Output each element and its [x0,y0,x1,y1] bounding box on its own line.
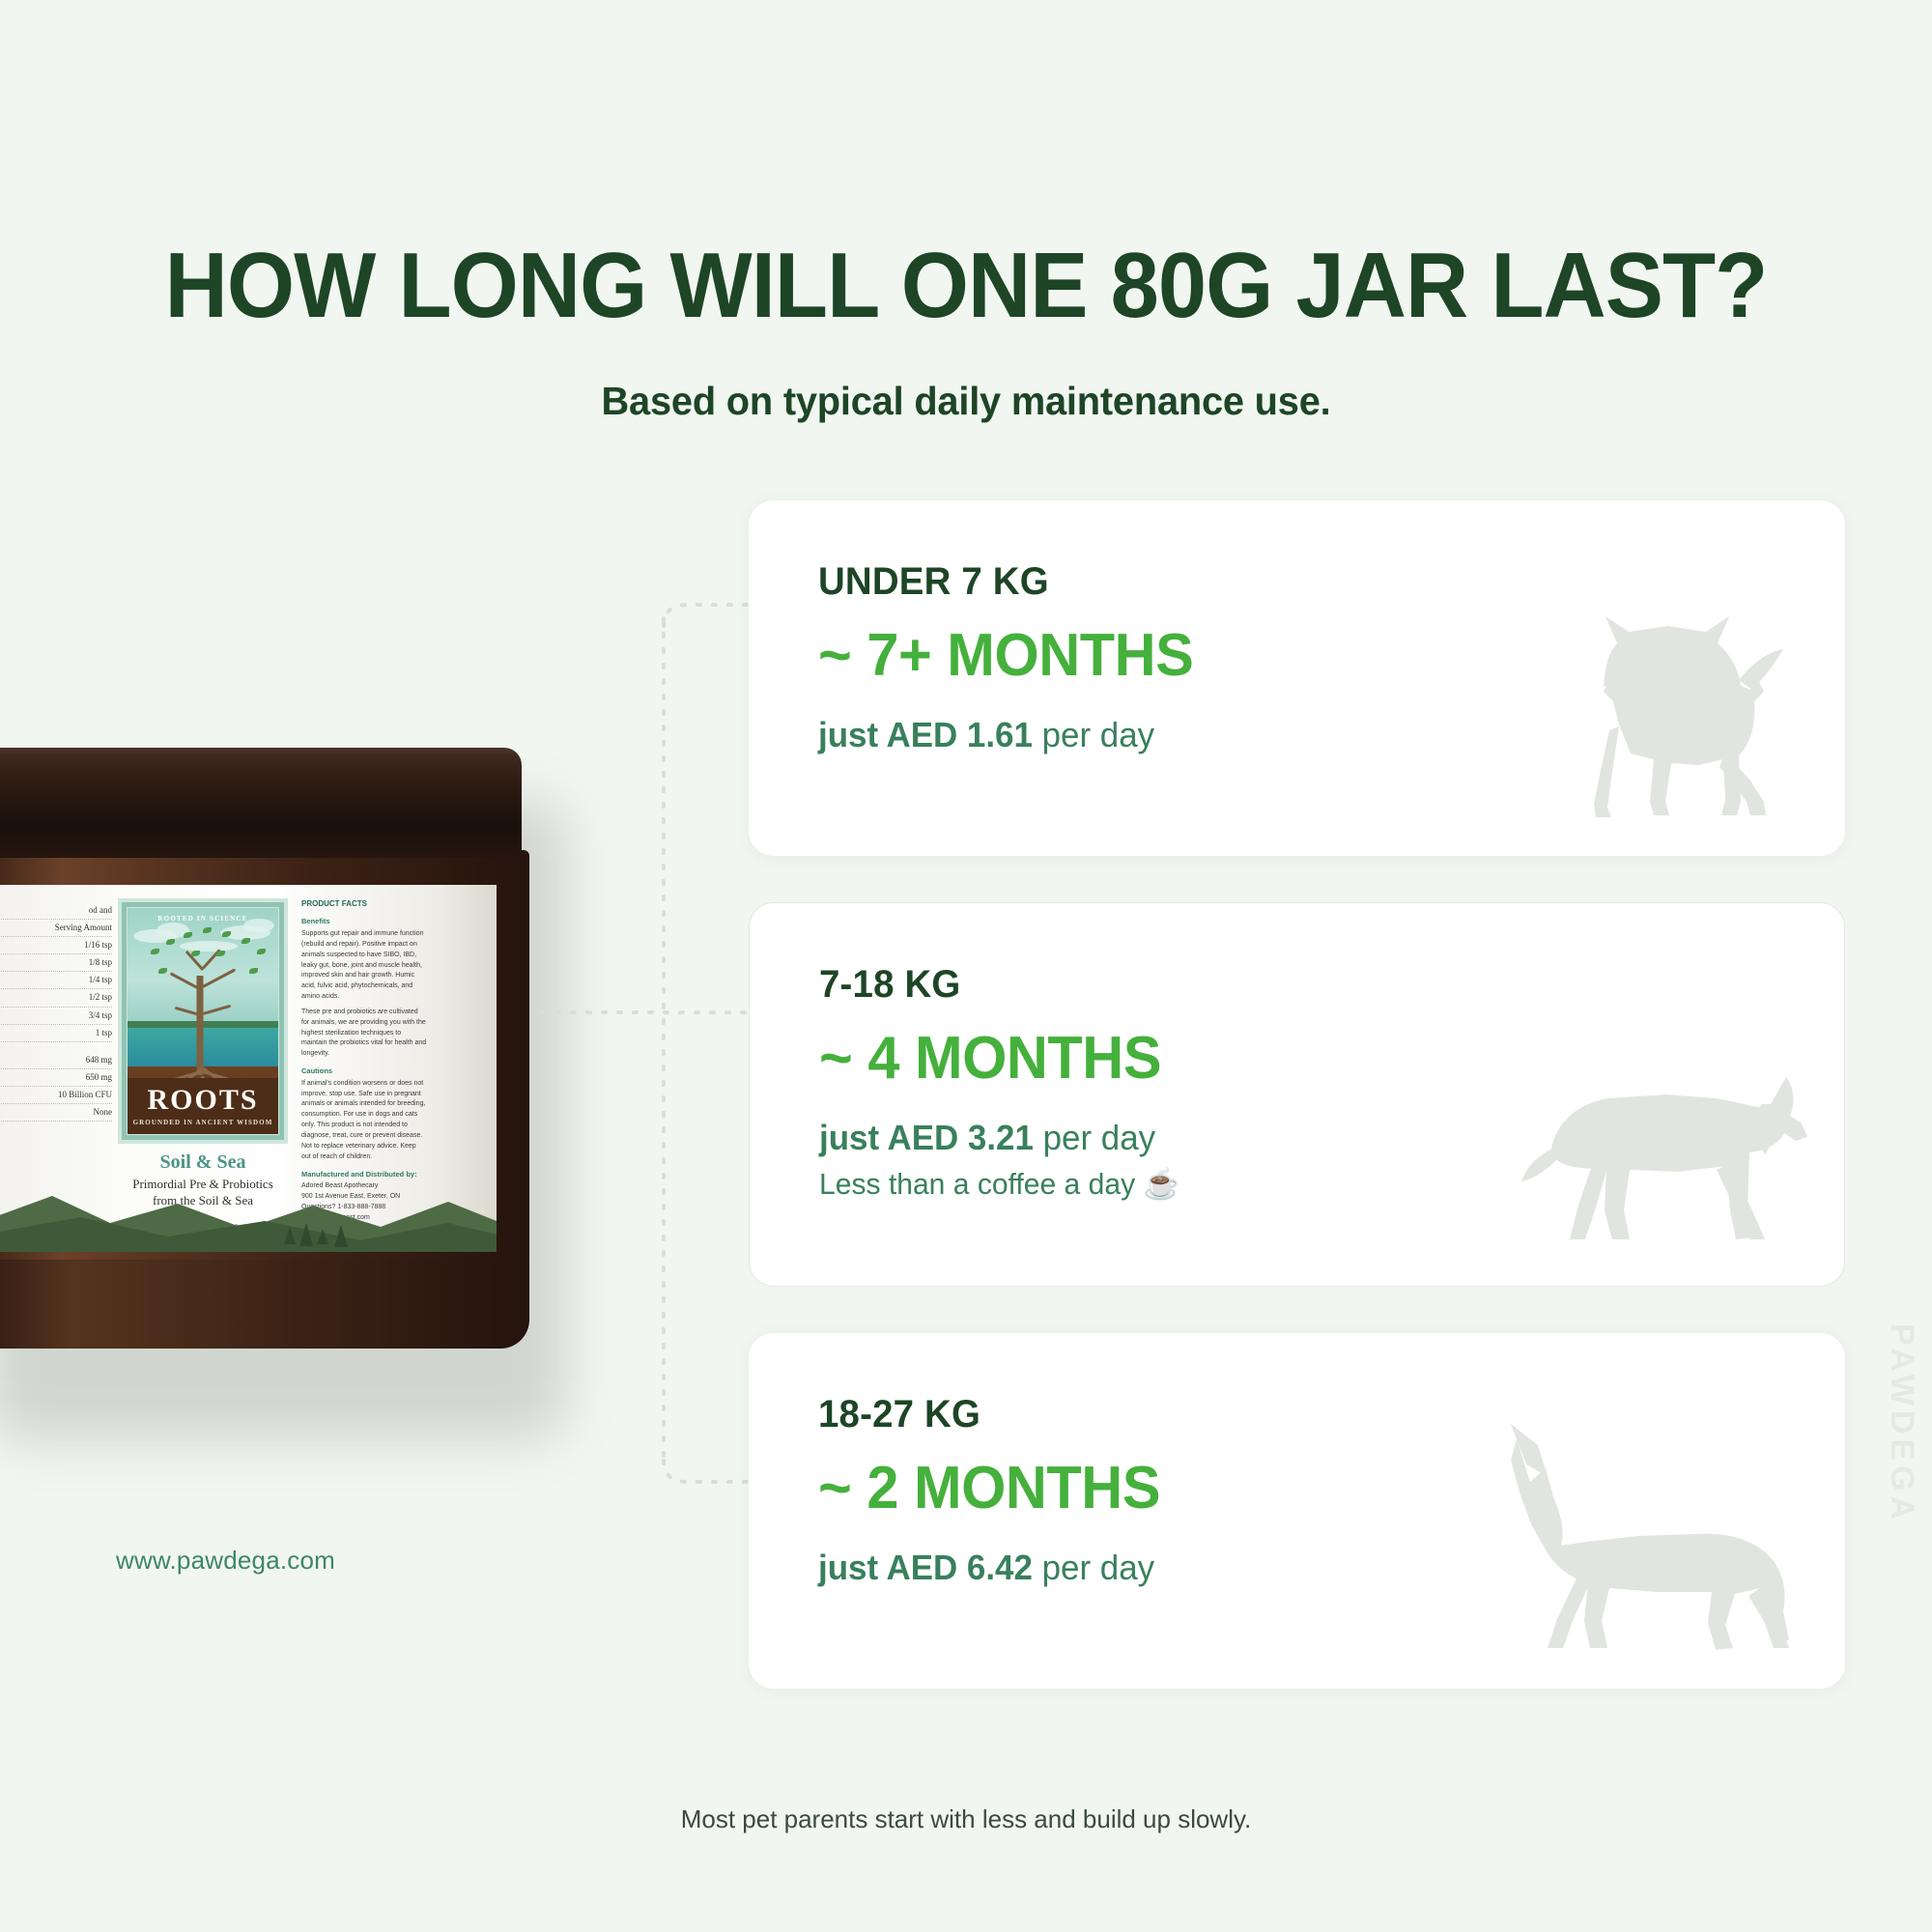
serving-col-heading: Serving Amount [0,920,112,937]
serving-col-intro: od and [0,902,112,920]
serving-row: 1 tsp [0,1025,112,1042]
price-line: just AED 1.61 per day [818,715,1814,755]
duration-value: ~ 2 MONTHS [818,1454,1804,1522]
benefits-text: Supports gut repair and immune function … [301,929,427,1003]
weight-label: 18-27 KG [818,1393,1804,1436]
serving-row: 3/4 tsp [0,1008,112,1025]
coffee-note: Less than a coffee a day ☕ [819,1166,1813,1202]
amount-row: None [0,1104,112,1122]
product-variant: Soil & Sea [102,1151,303,1174]
jar-label: od and Serving Amount 1/16 tsp 1/8 tsp 1… [0,885,497,1252]
duration-cards: UNDER 7 KG ~ 7+ MONTHS just AED 1.61 per… [749,500,1845,1735]
footnote: Most pet parents start with less and bui… [0,1804,1932,1834]
manufacturer-heading: Manufactured and Distributed by: [301,1169,427,1180]
price-line: just AED 6.42 per day [818,1548,1814,1588]
jar-base [0,1260,529,1349]
card-content: 18-27 KG ~ 2 MONTHS just AED 6.42 per da… [749,1333,1845,1644]
weight-label: UNDER 7 KG [818,560,1804,604]
facts-body-text: These pre and probiotics are cultivated … [301,1008,427,1060]
amount-row: 648 mg [0,1052,112,1069]
serving-amount-column: od and Serving Amount 1/16 tsp 1/8 tsp 1… [0,902,112,1122]
serving-row: 1/16 tsp [0,937,112,954]
jar-lid [0,753,522,858]
brand-band: ROOTS GROUNDED IN ANCIENT WISDOM [128,1078,278,1134]
brand-tagline: GROUNDED IN ANCIENT WISDOM [133,1119,273,1126]
brand-watermark: PAWDEGA [1883,1323,1920,1524]
site-url[interactable]: www.pawdega.com [116,1546,335,1576]
coffee-note-text: Less than a coffee a day [819,1167,1135,1201]
amount-row: 10 Billion CFU [0,1087,112,1104]
price-amount: just AED 6.42 [818,1548,1033,1587]
label-artwork: ROOTED IN SCIENCE ROOTS GROUNDED IN ANCI… [118,898,288,1144]
label-artwork-frame: ROOTED IN SCIENCE ROOTS GROUNDED IN ANCI… [127,907,279,1135]
serving-row: 1/4 tsp [0,972,112,989]
price-period: per day [1042,1548,1154,1587]
brand-name: ROOTS [147,1086,258,1115]
hot-beverage-icon: ☕ [1143,1167,1179,1201]
price-amount: just AED 3.21 [819,1118,1034,1157]
amount-row: 650 mg [0,1069,112,1087]
page-header: HOW LONG WILL ONE 80G JAR LAST? Based on… [0,0,1932,424]
cautions-heading: Cautions [301,1065,427,1077]
product-jar-image: od and Serving Amount 1/16 tsp 1/8 tsp 1… [0,753,578,1430]
product-facts-heading: PRODUCT FACTS [301,898,427,910]
product-facts-column: PRODUCT FACTS Benefits Supports gut repa… [301,898,427,1224]
cautions-text: If animal's condition worsens or does no… [301,1079,427,1163]
jar: od and Serving Amount 1/16 tsp 1/8 tsp 1… [0,753,529,1410]
page-subtitle: Based on typical daily maintenance use. [29,379,1903,424]
price-period: per day [1042,715,1154,754]
price-period: per day [1043,1118,1155,1157]
label-top-caption: ROOTED IN SCIENCE [128,915,278,923]
weight-label: 7-18 KG [819,963,1804,1007]
price-line: just AED 3.21 per day [819,1118,1813,1158]
label-mountain-graphic [0,1184,497,1252]
page-title: HOW LONG WILL ONE 80G JAR LAST? [58,240,1874,332]
card-content: UNDER 7 KG ~ 7+ MONTHS just AED 1.61 per… [749,500,1845,811]
card-content: 7-18 KG ~ 4 MONTHS just AED 3.21 per day… [750,903,1844,1258]
serving-row: 1/2 tsp [0,989,112,1007]
price-amount: just AED 1.61 [818,715,1033,754]
serving-row: 1/8 tsp [0,954,112,972]
card-18-27kg[interactable]: 18-27 KG ~ 2 MONTHS just AED 6.42 per da… [749,1333,1845,1689]
card-under-7kg[interactable]: UNDER 7 KG ~ 7+ MONTHS just AED 1.61 per… [749,500,1845,856]
card-7-18kg[interactable]: 7-18 KG ~ 4 MONTHS just AED 3.21 per day… [749,902,1845,1287]
duration-value: ~ 4 MONTHS [819,1024,1804,1093]
duration-value: ~ 7+ MONTHS [818,621,1804,690]
benefits-heading: Benefits [301,916,427,927]
